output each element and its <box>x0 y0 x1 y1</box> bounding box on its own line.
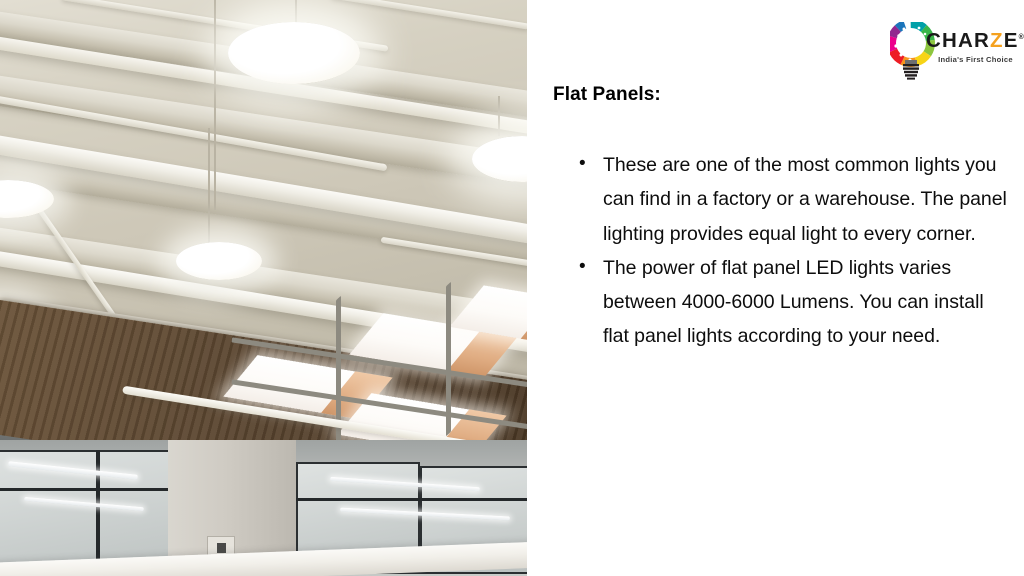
slide-photo <box>0 0 527 576</box>
slide-content: CHARZE® India's First Choice Flat Panels… <box>527 0 1024 576</box>
logo-brand-part2: E <box>1004 29 1019 52</box>
logo-tagline: India's First Choice <box>926 55 1024 64</box>
panel-grid-rail <box>446 282 451 437</box>
pendant-rod <box>498 96 500 136</box>
charze-logo: CHARZE® India's First Choice <box>890 22 994 84</box>
pendant-rod <box>208 128 210 256</box>
glass-mullion <box>0 488 170 491</box>
flat-panel-cluster <box>250 318 527 458</box>
logo-brand-part1: CHAR <box>926 29 990 52</box>
glass-mullion <box>296 498 527 501</box>
conduit-pipe <box>331 0 527 30</box>
list-item: These are one of the most common lights … <box>577 148 1007 251</box>
logo-wordmark: CHARZE® India's First Choice <box>926 31 1024 64</box>
logo-brand-accent: Z <box>990 29 1004 52</box>
page-title: Flat Panels: <box>553 84 661 106</box>
registered-mark: ® <box>1019 34 1024 41</box>
list-item: The power of flat panel LED lights varie… <box>577 251 1007 354</box>
pendant-light <box>176 242 262 280</box>
glass-mullion <box>96 450 100 574</box>
bullet-list: These are one of the most common lights … <box>577 148 1007 354</box>
pendant-light <box>228 22 360 84</box>
pendant-rod <box>214 0 216 210</box>
